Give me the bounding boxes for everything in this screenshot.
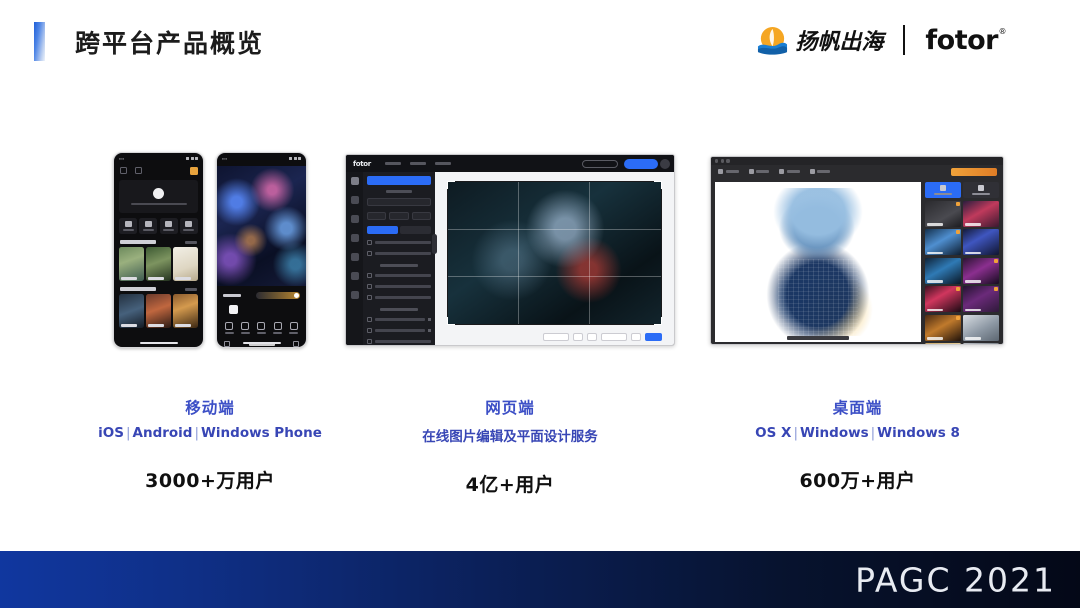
avatar-icon: [120, 167, 127, 174]
avatar[interactable]: [660, 159, 670, 169]
tab-effects[interactable]: [925, 182, 961, 198]
caption-stat: 4亿+用户: [345, 470, 675, 497]
effect-thumb[interactable]: [963, 229, 999, 255]
pro-badge-icon: [190, 167, 198, 175]
canvas-photo: [447, 181, 662, 325]
panel-tabs: [367, 226, 431, 234]
panel-row[interactable]: [367, 317, 431, 322]
tab-add-image[interactable]: [963, 182, 999, 198]
upgrade-button[interactable]: [951, 168, 997, 176]
rail-item-text[interactable]: [351, 272, 359, 280]
page-title-group: 跨平台产品概览: [34, 22, 264, 61]
event-logo: PAGC 2021: [855, 560, 1056, 599]
thumb-item: [173, 294, 198, 328]
rail-item-edit[interactable]: [351, 177, 359, 185]
phone-tool-grid: [114, 213, 203, 234]
thumb-item: [146, 247, 171, 281]
phone-status-bar: ▪▪▪▪: [217, 153, 306, 164]
tool-collage: [139, 218, 157, 234]
canvas-footer-bar: [787, 336, 849, 340]
size-fields: [367, 212, 431, 220]
effect-thumb[interactable]: [963, 201, 999, 227]
desktop-body: [711, 178, 1003, 345]
tool-filter: [241, 322, 250, 334]
menu-item: [410, 162, 426, 165]
platform-android: Android: [133, 425, 193, 441]
upgrade-pro-pill[interactable]: [582, 160, 618, 168]
adjust-slider-row: [217, 286, 306, 299]
platform-windows8: Windows 8: [877, 425, 960, 441]
desktop-app-mockup: [710, 156, 1004, 345]
effect-thumb[interactable]: [963, 286, 999, 312]
tool-crop: [225, 322, 234, 334]
unit-field[interactable]: [412, 212, 431, 220]
toolbar-item-frames[interactable]: [779, 169, 800, 174]
home-indicator: [243, 342, 281, 344]
sidebar-tabs: [925, 182, 999, 198]
canvas-bottom-bar: [447, 331, 662, 342]
hero-caption: [131, 203, 187, 205]
caption-desktop: 桌面端 OS X|Windows|Windows 8 600万+用户: [710, 396, 1005, 493]
panel-row[interactable]: [367, 251, 431, 256]
panel-collapse-handle[interactable]: [432, 234, 437, 254]
effect-thumb[interactable]: [925, 201, 961, 227]
rail-item-adjust[interactable]: [351, 196, 359, 204]
caption-title: 移动端: [60, 396, 360, 418]
web-side-panel: [363, 172, 435, 346]
web-topbar: fotor: [346, 155, 674, 172]
title-accent-bar: [34, 22, 45, 61]
panel-section-label: [380, 264, 418, 267]
status-icons: [186, 157, 198, 160]
tool-effect: [273, 322, 282, 334]
swatch-row: [217, 299, 306, 314]
maximize-icon[interactable]: [726, 159, 729, 162]
panel-row[interactable]: [367, 240, 431, 245]
editor-tool-row: [217, 314, 306, 334]
sun-wave-logo-icon: [757, 25, 788, 56]
platform-ios: iOS: [98, 425, 124, 441]
window-titlebar: [711, 157, 1003, 165]
fotor-wordmark: fotor®: [925, 25, 998, 56]
status-icons: [289, 157, 301, 160]
panel-row[interactable]: [367, 295, 431, 300]
filename-field[interactable]: [543, 333, 569, 341]
mobile-phone-editor-mockup: ▪▪▪▪: [216, 152, 307, 348]
effect-thumb[interactable]: [963, 315, 999, 341]
zoom-out-button[interactable]: [573, 333, 583, 341]
minimize-icon[interactable]: [721, 159, 724, 162]
panel-row[interactable]: [367, 273, 431, 278]
panel-row[interactable]: [367, 328, 431, 333]
effect-thumb[interactable]: [963, 258, 999, 284]
partner-name: 扬帆出海: [795, 24, 883, 56]
platform-osx: OS X: [755, 425, 791, 441]
featured-grid: [114, 294, 203, 328]
slide-footer: PAGC 2021: [0, 551, 1080, 608]
slider-label: [223, 294, 241, 297]
rail-item-frames[interactable]: [351, 253, 359, 261]
caption-subtitle: 在线图片编辑及平面设计服务: [345, 425, 675, 445]
panel-row[interactable]: [367, 284, 431, 289]
width-field[interactable]: [367, 212, 386, 220]
double-exposure-portrait: [762, 188, 874, 336]
panel-section-label: [386, 190, 412, 193]
platform-windows: Windows: [800, 425, 869, 441]
caption-web: 网页端 在线图片编辑及平面设计服务 4亿+用户: [345, 396, 675, 497]
tab-active[interactable]: [367, 226, 398, 234]
search-input[interactable]: [367, 176, 431, 185]
panel-row[interactable]: [367, 339, 431, 344]
status-time: ▪▪▪▪: [119, 157, 124, 161]
color-swatch[interactable]: [229, 305, 238, 314]
desktop-canvas: [715, 182, 921, 342]
effect-thumb[interactable]: [925, 315, 961, 341]
zoom-level-field[interactable]: [601, 333, 627, 341]
cancel-icon[interactable]: [224, 341, 230, 347]
registered-mark: ®: [999, 27, 1007, 36]
effect-thumb[interactable]: [925, 343, 961, 345]
camera-icon: [135, 167, 142, 174]
platform-windows-phone: Windows Phone: [201, 425, 322, 441]
slide-header: 跨平台产品概览 扬帆出海 fotor®: [0, 0, 1080, 88]
ratio-select[interactable]: [367, 198, 431, 206]
partner-logo: 扬帆出海: [757, 24, 883, 56]
toolbar-item-text[interactable]: [810, 169, 831, 174]
web-editor-mockup: fotor: [345, 154, 675, 346]
phone-hero-card: [119, 180, 198, 213]
confirm-icon[interactable]: [293, 341, 299, 347]
add-photo-icon: [153, 188, 164, 199]
status-time: ▪▪▪▪: [222, 157, 227, 161]
web-menu: [385, 162, 451, 165]
height-field[interactable]: [389, 212, 408, 220]
effect-thumb[interactable]: [925, 229, 961, 255]
rail-item-effects[interactable]: [351, 215, 359, 223]
thumb-item: [173, 247, 198, 281]
caption-platforms: iOS|Android|Windows Phone: [60, 425, 360, 441]
menu-item: [435, 162, 451, 165]
rail-item-stickers[interactable]: [351, 291, 359, 299]
thumb-item: [119, 294, 144, 328]
rail-item-beauty[interactable]: [351, 234, 359, 242]
intensity-slider[interactable]: [256, 292, 300, 299]
see-all-link: [185, 241, 197, 244]
close-icon[interactable]: [715, 159, 718, 162]
thumb-item: [119, 247, 144, 281]
caption-title: 桌面端: [710, 396, 1005, 418]
toolbar-item-effects[interactable]: [749, 169, 770, 174]
thumb-item: [146, 294, 171, 328]
effect-thumbnails: [925, 201, 999, 346]
fotor-label: fotor: [925, 25, 998, 56]
tool-sticker: [289, 322, 298, 334]
zoom-in-button[interactable]: [587, 333, 597, 341]
effects-sidebar: [925, 182, 999, 342]
tool-adjust: [257, 322, 266, 334]
page-title: 跨平台产品概览: [75, 24, 264, 60]
phone-status-bar: ▪▪▪▪: [114, 153, 203, 164]
panel-section-label: [380, 308, 418, 311]
editor-photo-canvas: [217, 166, 306, 286]
toolbar-item-edit[interactable]: [718, 169, 739, 174]
menu-item: [385, 162, 401, 165]
desktop-toolbar: [711, 165, 1003, 178]
tab-secondary[interactable]: [400, 226, 431, 234]
section-header-featured: [114, 281, 203, 294]
save-button[interactable]: [645, 333, 662, 341]
mobile-phone-home-mockup: ▪▪▪▪: [113, 152, 204, 348]
effect-thumb[interactable]: [925, 286, 961, 312]
home-indicator: [140, 342, 178, 344]
caption-platforms: OS X|Windows|Windows 8: [710, 425, 1005, 441]
caption-stat: 600万+用户: [710, 466, 1005, 493]
web-body: [346, 172, 674, 346]
brand-logos: 扬帆出海 fotor®: [757, 24, 998, 56]
recommendations-grid: [114, 247, 203, 281]
web-icon-rail: [346, 172, 363, 346]
see-all-link: [185, 288, 197, 291]
caption-stat: 3000+万用户: [60, 466, 360, 493]
tool-design: [160, 218, 178, 234]
effect-thumb[interactable]: [963, 343, 999, 345]
brand-divider: [903, 25, 905, 55]
tool-ai: [180, 218, 198, 234]
tool-edit: [119, 218, 137, 234]
web-logo: fotor: [353, 160, 371, 168]
caption-mobile: 移动端 iOS|Android|Windows Phone 3000+万用户: [60, 396, 360, 493]
web-canvas: [435, 172, 674, 346]
section-header-recommendations: [114, 234, 203, 247]
effect-thumb[interactable]: [925, 258, 961, 284]
primary-action-button[interactable]: [624, 159, 658, 169]
fit-button[interactable]: [631, 333, 641, 341]
caption-title: 网页端: [345, 396, 675, 418]
editor-bottom-bar: [217, 334, 306, 347]
